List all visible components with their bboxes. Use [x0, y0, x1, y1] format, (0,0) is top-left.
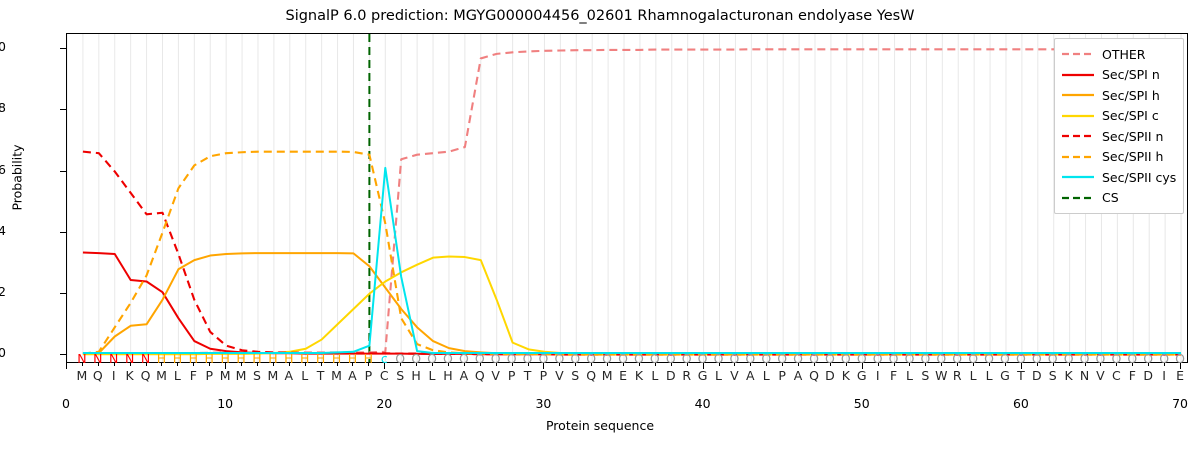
legend-swatch-icon [1061, 48, 1095, 60]
series-line-sec-spi-h [83, 253, 1181, 354]
legend-swatch-icon [1061, 69, 1095, 81]
legend-swatch-icon [1061, 192, 1095, 204]
legend: OTHERSec/SPI nSec/SPI hSec/SPI cSec/SPII… [1054, 38, 1184, 214]
x-tick-label: 0 [41, 396, 91, 411]
legend-label: Sec/SPII h [1102, 149, 1163, 164]
legend-label: Sec/SPII n [1102, 129, 1163, 144]
legend-item[interactable]: Sec/SPI c [1061, 106, 1176, 127]
y-tick-label: 1.0 [0, 41, 6, 54]
legend-swatch-icon [1061, 89, 1095, 101]
plot-area [66, 33, 1188, 363]
y-tick-label: 0.6 [0, 164, 6, 177]
y-tick-label: 0.4 [0, 225, 6, 238]
y-tick-label: 0.2 [0, 286, 6, 299]
legend-item[interactable]: OTHER [1061, 44, 1176, 65]
plot-canvas [67, 34, 1188, 363]
page-title: SignalP 6.0 prediction: MGYG000004456_02… [0, 8, 1200, 24]
legend-label: Sec/SPI n [1102, 67, 1160, 82]
legend-label: Sec/SPII cys [1102, 170, 1176, 185]
legend-label: Sec/SPI h [1102, 88, 1160, 103]
legend-item[interactable]: CS [1061, 188, 1176, 209]
legend-swatch-icon [1061, 130, 1095, 142]
y-tick-label: 0.8 [0, 102, 6, 115]
y-axis-label: Probability [10, 68, 25, 288]
sequence-track: NMNQNINKNQHMHLHFHPHMHMHSHMHAHLHTHMHAHPcC… [66, 352, 1188, 392]
legend-label: OTHER [1102, 47, 1145, 62]
sequence-annotation-cell: O [1169, 352, 1191, 366]
legend-label: CS [1102, 190, 1119, 205]
legend-swatch-icon [1061, 171, 1095, 183]
legend-item[interactable]: Sec/SPI h [1061, 85, 1176, 106]
series-line-sec-spi-n [83, 252, 1181, 354]
signalp-prediction-figure: SignalP 6.0 prediction: MGYG000004456_02… [0, 0, 1200, 450]
legend-item[interactable]: Sec/SPI n [1061, 65, 1176, 86]
legend-swatch-icon [1061, 151, 1095, 163]
series-line-sec-spi-c [83, 256, 1181, 354]
x-tick-label: 60 [996, 396, 1046, 411]
y-tick-label: 0.0 [0, 347, 6, 360]
legend-label: Sec/SPI c [1102, 108, 1159, 123]
series-line-other [83, 49, 1181, 353]
x-tick-label: 40 [678, 396, 728, 411]
sequence-residue-cell: E [1169, 369, 1191, 383]
x-axis-label: Protein sequence [0, 418, 1200, 433]
series-line-sec-spii-cys [83, 168, 1181, 353]
legend-swatch-icon [1061, 110, 1095, 122]
legend-item[interactable]: Sec/SPII n [1061, 126, 1176, 147]
x-tick-label: 10 [200, 396, 250, 411]
x-tick-label: 20 [359, 396, 409, 411]
legend-item[interactable]: Sec/SPII cys [1061, 167, 1176, 188]
x-tick-label: 70 [1155, 396, 1200, 411]
legend-item[interactable]: Sec/SPII h [1061, 147, 1176, 168]
x-tick-label: 30 [518, 396, 568, 411]
x-tick-label: 50 [837, 396, 887, 411]
